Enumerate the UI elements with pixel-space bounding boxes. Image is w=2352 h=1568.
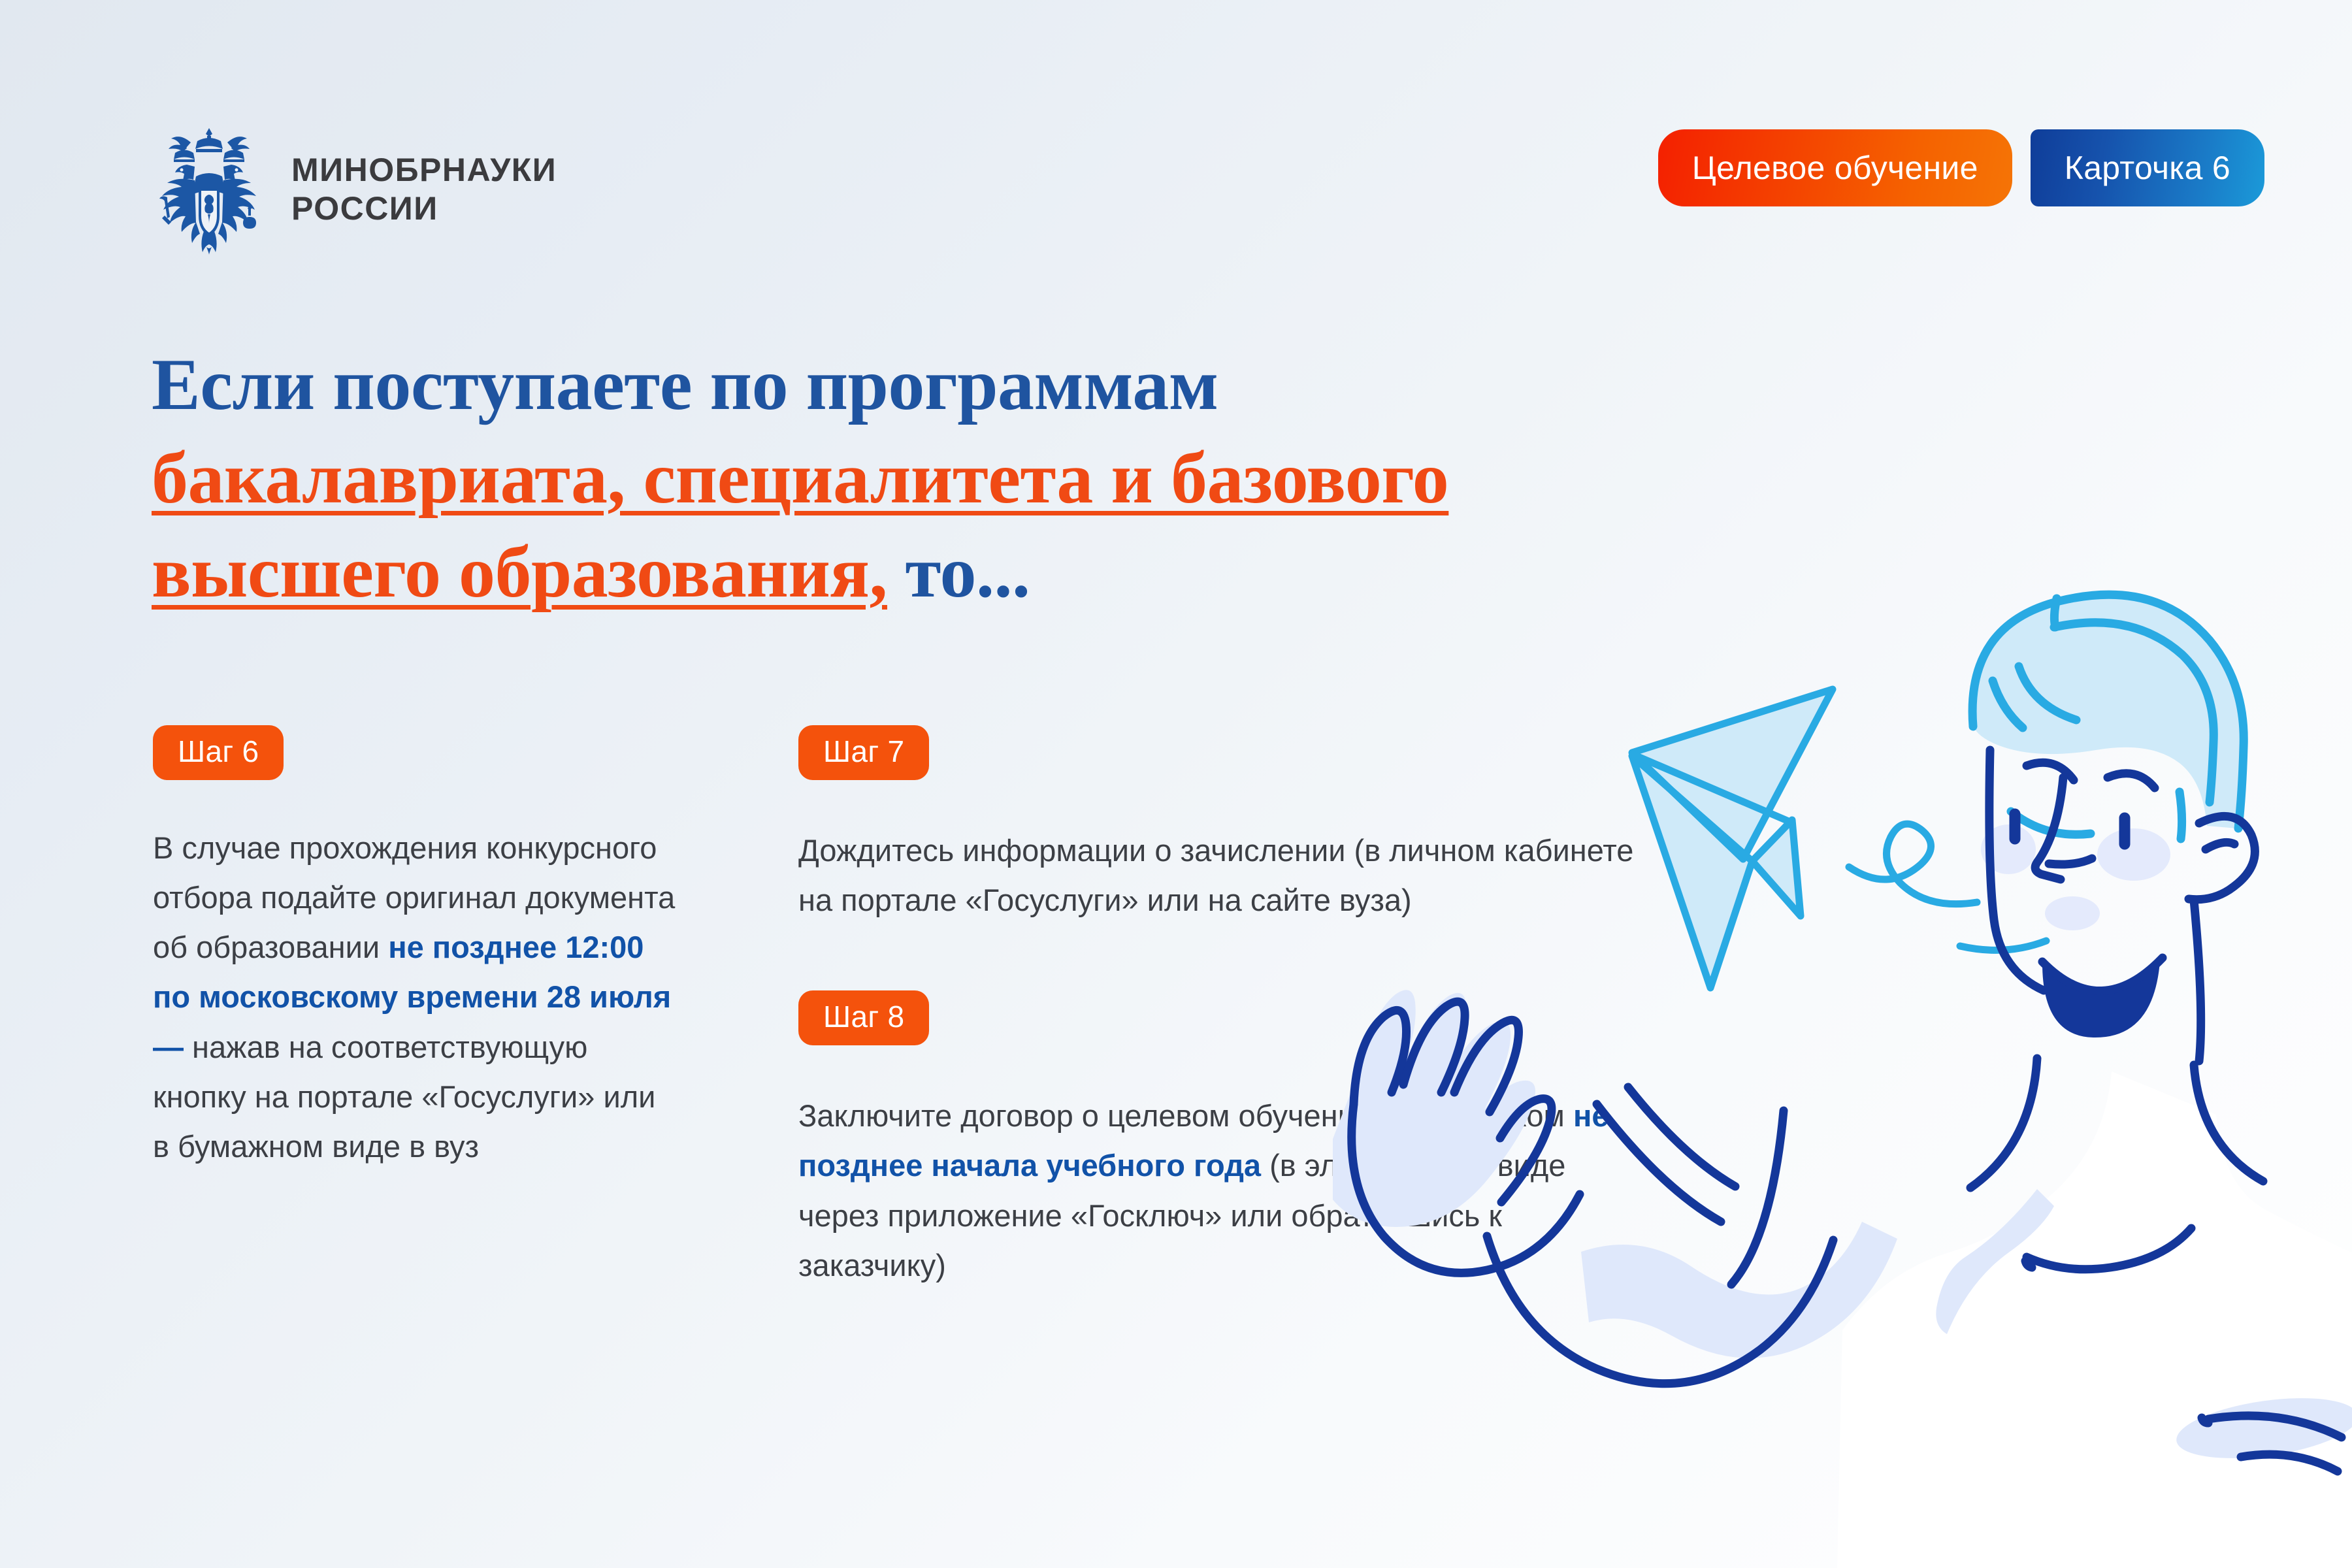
russian-coat-of-arms-emblem-icon (150, 124, 268, 255)
headline-line-3-tail: то... (887, 532, 1030, 613)
shirt-icon (1837, 1058, 2352, 1568)
page-header: МИНОБРНАУКИ РОССИИ Целевое обучение Карт… (150, 111, 2267, 242)
step-body-8: Заключите договор о целевом обучении с з… (798, 1091, 1654, 1290)
swirl-trail-icon (1849, 824, 2046, 950)
step-block-7: Шаг 7 Дождитесь информации о зачислении … (798, 725, 1654, 925)
brand-lockup: МИНОБРНАУКИ РОССИИ (150, 124, 557, 255)
step-badge-6: Шаг 6 (153, 725, 284, 780)
header-badges: Целевое обучение Карточка 6 (1658, 129, 2264, 206)
young-man-waving-icon (1972, 594, 2255, 1061)
step-6-segment-3: нажав на соответствующую кнопку на порта… (153, 1030, 655, 1164)
step-body-7: Дождитесь информации о зачислении (в лич… (798, 826, 1654, 925)
headline-line-3-highlight: высшего образования, (152, 532, 887, 613)
step-7-segment-1: Дождитесь информации о зачислении (в лич… (798, 833, 1633, 917)
paper-plane-icon (1632, 689, 1833, 988)
page-title: Если поступаете по программам бакалавриа… (152, 338, 1654, 619)
badge-topic[interactable]: Целевое обучение (1658, 129, 2012, 206)
headline-line-2: бакалавриата, специалитета и базового (152, 432, 1654, 525)
step-badge-8: Шаг 8 (798, 990, 929, 1045)
badge-card-number[interactable]: Карточка 6 (2031, 129, 2264, 206)
headline-line-1: Если поступаете по программам (152, 338, 1654, 432)
brand-name: МИНОБРНАУКИ РОССИИ (291, 151, 557, 228)
step-8-segment-1: Заключите договор о целевом обучении с з… (798, 1098, 1573, 1133)
step-column-left: Шаг 6 В случае прохождения конкурсного о… (153, 725, 676, 1171)
step-block-8: Шаг 8 Заключите договор о целевом обучен… (798, 990, 1654, 1290)
step-badge-7: Шаг 7 (798, 725, 929, 780)
step-body-6: В случае прохождения конкурсного отбора … (153, 823, 676, 1171)
step-column-middle: Шаг 7 Дождитесь информации о зачислении … (798, 725, 1654, 1290)
